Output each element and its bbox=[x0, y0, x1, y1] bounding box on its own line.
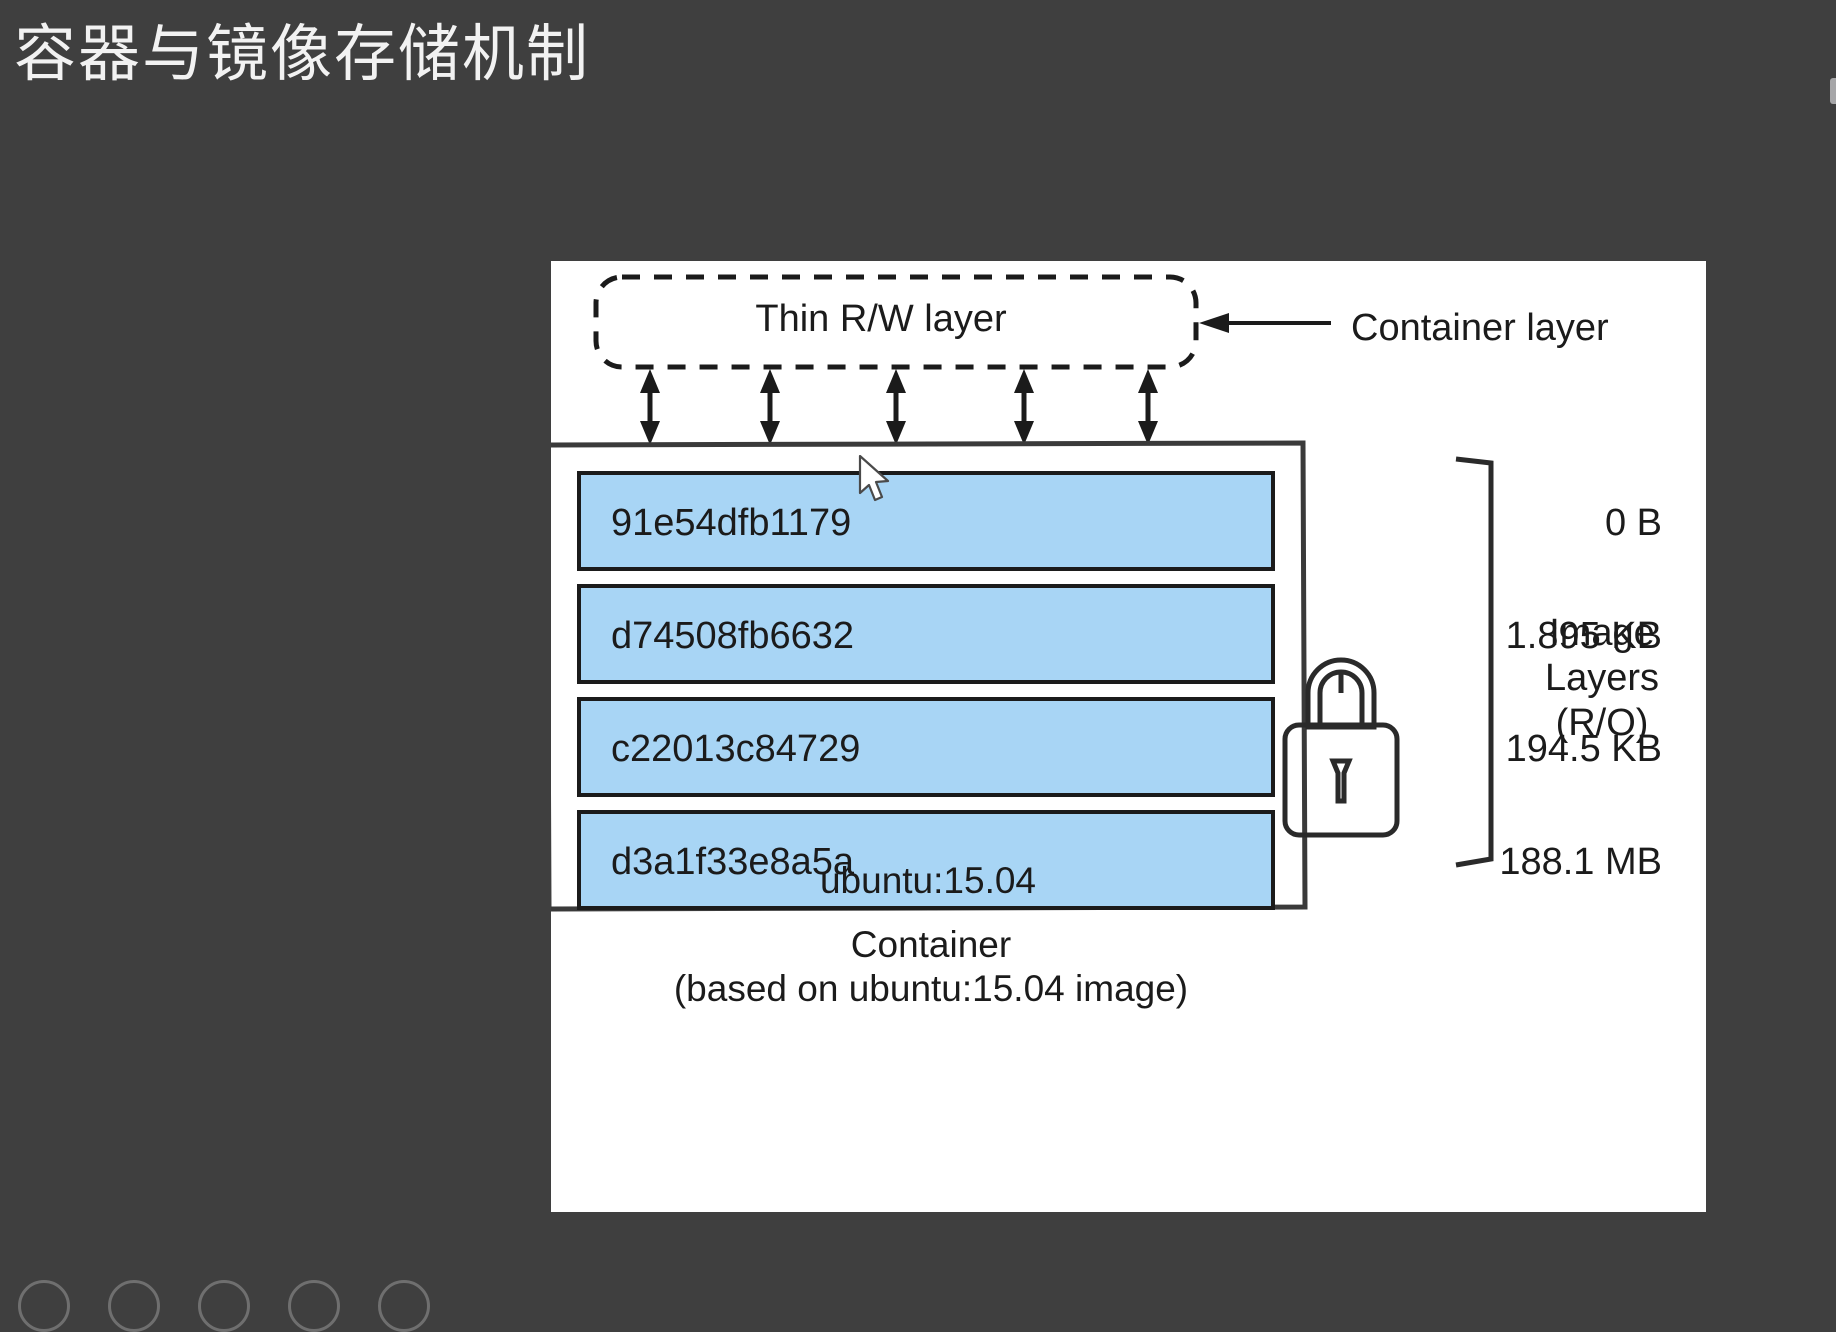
container-layer-arrow bbox=[1199, 313, 1331, 333]
image-layer-id: d74508fb6632 bbox=[611, 614, 854, 659]
image-layer-size: 188.1 MB bbox=[1499, 840, 1662, 885]
image-layers-label: Image Layers (R/O) bbox=[1517, 611, 1687, 745]
toolbar-circle-5[interactable] bbox=[378, 1280, 430, 1332]
toolbar-circle-4[interactable] bbox=[288, 1280, 340, 1332]
double-arrow-2 bbox=[760, 369, 780, 445]
double-arrow-5 bbox=[1138, 369, 1158, 445]
container-caption-line-1: Container bbox=[551, 923, 1311, 967]
diagram-panel: Thin R/W layer Container layer 91e54dfb1… bbox=[551, 261, 1706, 1212]
container-layer-label: Container layer bbox=[1351, 306, 1609, 351]
thin-rw-layer-label: Thin R/W layer bbox=[551, 297, 1211, 342]
toolbar-circle-1[interactable] bbox=[18, 1280, 70, 1332]
image-layers-bracket bbox=[1456, 459, 1491, 865]
right-edge-marker bbox=[1830, 78, 1836, 104]
image-layers-line-2: Layers bbox=[1517, 656, 1687, 701]
double-arrow-4 bbox=[1014, 369, 1034, 445]
image-layers-line-1: Image bbox=[1517, 611, 1687, 656]
rw-to-image-arrows bbox=[640, 369, 1158, 445]
image-layer-id: 91e54dfb1179 bbox=[611, 501, 851, 546]
image-layer-size: 0 B bbox=[1605, 501, 1662, 546]
image-layers-line-3: (R/O) bbox=[1517, 701, 1687, 746]
toolbar-circle-2[interactable] bbox=[108, 1280, 160, 1332]
image-layer-id: c22013c84729 bbox=[611, 727, 860, 772]
container-caption-line-2: (based on ubuntu:15.04 image) bbox=[551, 967, 1311, 1011]
double-arrow-1 bbox=[640, 369, 660, 445]
double-arrow-3 bbox=[886, 369, 906, 445]
page-title: 容器与镜像存储机制 bbox=[14, 16, 590, 94]
bottom-toolbar[interactable] bbox=[0, 1250, 1836, 1302]
container-caption: Container (based on ubuntu:15.04 image) bbox=[551, 923, 1311, 1010]
image-name-label: ubuntu:15.04 bbox=[551, 859, 1305, 903]
toolbar-circle-3[interactable] bbox=[198, 1280, 250, 1332]
